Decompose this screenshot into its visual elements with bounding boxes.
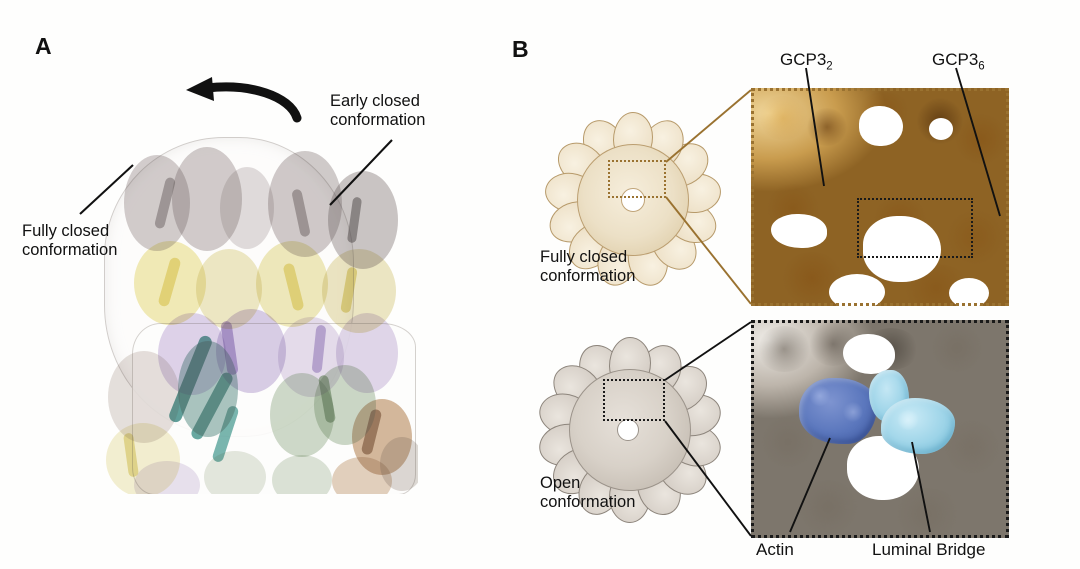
label-fully-closed-conformation-a: Fully closed conformation [22,222,198,260]
panel-a-structure-render [100,137,418,494]
label-fully-closed-conformation-b: Fully closed conformation [540,248,690,286]
crop-border-fully-closed [751,88,1009,306]
selection-box-open-ring [603,379,665,421]
figure-canvas: A [0,0,1080,569]
label-gcp3-2-sub: 2 [826,60,832,72]
label-open-conformation-b: Open conformation [540,474,690,512]
rotation-arrow-icon [186,77,297,118]
selection-box-fully-closed-ring [608,160,666,198]
panel-b-letter: B [512,36,529,63]
label-early-closed-conformation-a: Early closed conformation [330,92,500,130]
subunit-grey [220,167,274,249]
crop-border-open [751,320,1009,538]
subunit-green [204,451,266,494]
label-gcp3-2: GCP32 [780,50,833,72]
label-gcp3-6-base: GCP3 [932,50,978,69]
label-actin: Actin [756,540,794,560]
label-gcp3-2-base: GCP3 [780,50,826,69]
label-gcp3-6: GCP36 [932,50,985,72]
label-luminal-bridge: Luminal Bridge [872,540,985,560]
panel-a-letter: A [35,33,52,60]
ring-pore [617,419,639,441]
label-gcp3-6-sub: 6 [978,60,984,72]
